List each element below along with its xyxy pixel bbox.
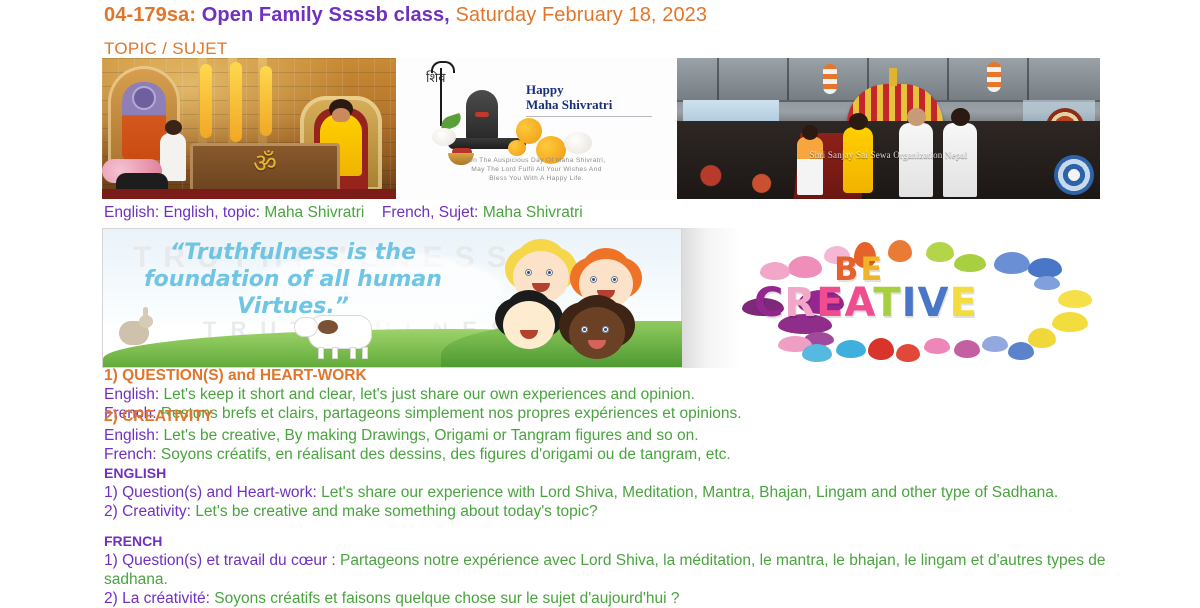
section-heading: 2) CREATIVITY [104,407,1164,426]
cow-illustration [308,315,372,349]
watermark-text: Shri Sanjay Sai Sewa Organization Nepal [677,150,1100,160]
english-block: ENGLISH 1) Question(s) and Heart-work: L… [104,464,1164,521]
truthfulness-quote-banner: TRUTHFULNESS TRUTHFULNESS “Truthfulness … [102,228,682,368]
card-caption: On The Auspicious Day Of Maha Shivratri,… [396,156,677,183]
topic-caption-row: English: English, topic: Maha Shivratri … [104,203,1164,222]
creative-word: CREATIVE [754,280,978,326]
card-heading: Happy Maha Shivratri [526,82,612,112]
child-face-redhead [579,259,633,309]
french-item-2-text: Soyons créatifs et faisons quelque chose… [214,590,679,607]
trident-icon [440,68,442,126]
quote-text: “Truthfulness is the foundation of all h… [143,239,443,320]
section-english-line: English: Let's be creative, By making Dr… [104,426,1164,445]
rabbit-illustration [119,321,149,345]
english-item-1-text: Let's share our experience with Lord Shi… [321,484,1058,501]
english-text: Let's keep it short and clear, let's jus… [163,386,695,403]
happy-maha-shivratri-card: शिव Happy Maha Shivratri On The Auspicio… [396,58,677,199]
slide-page: 04-179sa: Open Family Ssssb class, Satur… [0,0,1200,600]
topic-sujet-label: TOPIC / SUJET [104,39,228,59]
french-item-2: 2) La créativité: Soyons créatifs et fai… [104,589,1164,608]
french-block-heading: FRENCH [104,532,1164,551]
section-creativity: 2) CREATIVITY English: Let's be creative… [104,407,1164,464]
be-creative-banner: BE CREATIVE [682,228,1100,368]
child-face-asian [503,301,555,349]
shiva-shrine-photo: ॐ [102,58,396,199]
om-symbol-icon: ॐ [190,150,340,176]
section-french-line: French: Soyons créatifs, en réalisant de… [104,445,1164,464]
english-item-1: 1) Question(s) and Heart-work: Let's sha… [104,483,1164,502]
caption-french-label: French, Sujet: [382,204,479,221]
title-date: Saturday February 18, 2023 [450,4,707,26]
shiva-lingam-icon [466,90,498,144]
page-title: 04-179sa: Open Family Ssssb class, Satur… [104,4,707,27]
french-item-2-label: 2) La créativité: [104,590,210,607]
english-item-2-label: 2) Creativity: [104,503,191,520]
english-text: Let's be creative, By making Drawings, O… [163,427,698,444]
child-face-dark [569,307,625,359]
french-item-1-label: 1) Question(s) et travail du cœur : [104,552,336,569]
saffron-robe-figure [843,127,873,193]
title-main: Open Family Ssssb class, [196,4,450,26]
english-label: English: [104,386,159,403]
caption-french-topic: Maha Shivratri [483,204,583,221]
caption-english-topic: Maha Shivratri [264,204,364,221]
section-heading: 1) QUESTION(S) and HEART-WORK [104,366,1164,385]
english-item-2: 2) Creativity: Let's be creative and mak… [104,502,1164,521]
title-code: 04-179sa: [104,4,196,26]
english-label: English: [104,427,159,444]
caption-english-label: English: English, topic: [104,204,260,221]
organization-logo-badge [1054,155,1094,195]
french-label: French: [104,446,157,463]
french-block: FRENCH 1) Question(s) et travail du cœur… [104,532,1164,608]
english-item-1-label: 1) Question(s) and Heart-work: [104,484,317,501]
french-text: Soyons créatifs, en réalisant des dessin… [161,446,731,463]
english-item-2-text: Let's be creative and make something abo… [195,503,597,520]
sai-sewa-hall-photo: Shri Sanjay Sai Sewa Organization Nepal [677,58,1100,199]
french-item-1: 1) Question(s) et travail du cœur : Part… [104,551,1164,589]
english-block-heading: ENGLISH [104,464,1164,483]
child-face-blonde [513,251,569,303]
section-english-line: English: Let's keep it short and clear, … [104,385,1164,404]
